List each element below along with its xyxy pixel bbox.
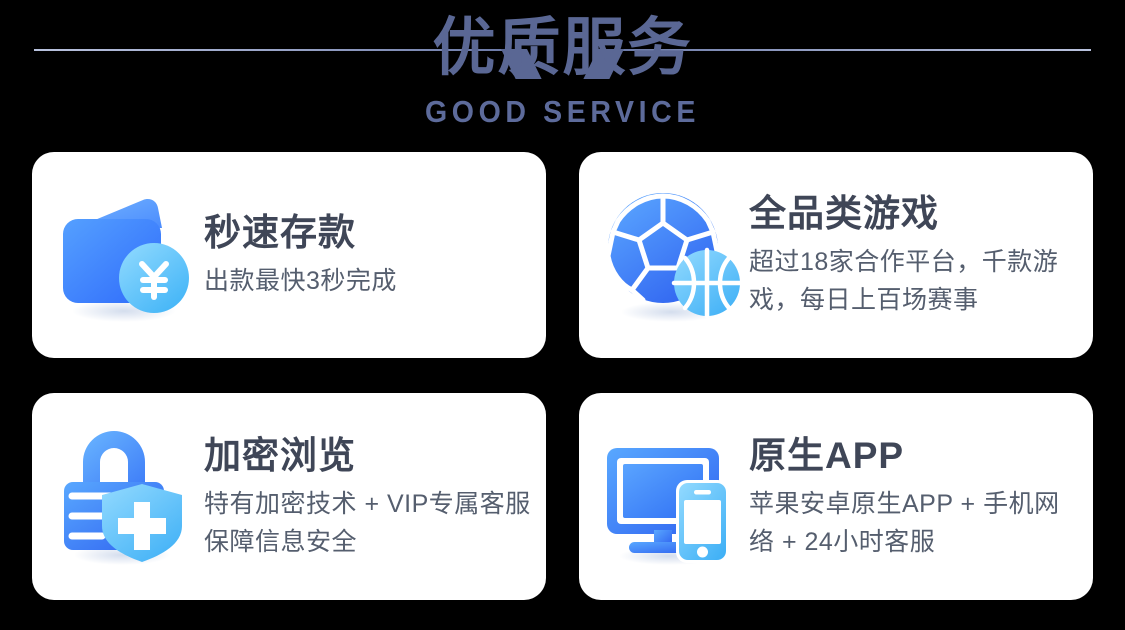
feature-card-grid: 秒速存款 出款最快3秒完成 (32, 152, 1093, 600)
wallet-yen-icon (50, 180, 200, 330)
good-service-panel: 优质服务 GOOD SERVICE (0, 0, 1125, 630)
card-description: 出款最快3秒完成 (204, 262, 532, 300)
card-description: 苹果安卓原生APP + 手机网络 + 24小时客服 (749, 485, 1079, 561)
monitor-phone-icon (597, 422, 747, 572)
card-text-block: 秒速存款 出款最快3秒完成 (200, 210, 546, 300)
page-title: 优质服务 (0, 8, 1125, 88)
card-description: 超过18家合作平台，千款游戏，每日上百场赛事 (749, 243, 1079, 319)
card-text-block: 全品类游戏 超过18家合作平台，千款游戏，每日上百场赛事 (747, 191, 1093, 319)
soccer-basketball-icon (597, 180, 747, 330)
card-text-block: 加密浏览 特有加密技术 + VIP专属客服保障信息安全 (200, 433, 546, 561)
feature-card-native-app[interactable]: 原生APP 苹果安卓原生APP + 手机网络 + 24小时客服 (579, 393, 1093, 600)
card-text-block: 原生APP 苹果安卓原生APP + 手机网络 + 24小时客服 (747, 433, 1093, 561)
card-title: 加密浏览 (204, 433, 532, 479)
card-title: 秒速存款 (204, 210, 532, 256)
card-title: 全品类游戏 (749, 191, 1079, 237)
card-description: 特有加密技术 + VIP专属客服保障信息安全 (204, 485, 532, 561)
page-subtitle: GOOD SERVICE (45, 93, 1080, 131)
feature-card-games[interactable]: 全品类游戏 超过18家合作平台，千款游戏，每日上百场赛事 (579, 152, 1093, 358)
card-title: 原生APP (749, 433, 1079, 479)
section-header: 优质服务 GOOD SERVICE (0, 0, 1125, 148)
lock-shield-icon (50, 422, 200, 572)
feature-card-encryption[interactable]: 加密浏览 特有加密技术 + VIP专属客服保障信息安全 (32, 393, 546, 600)
feature-card-deposit[interactable]: 秒速存款 出款最快3秒完成 (32, 152, 546, 358)
